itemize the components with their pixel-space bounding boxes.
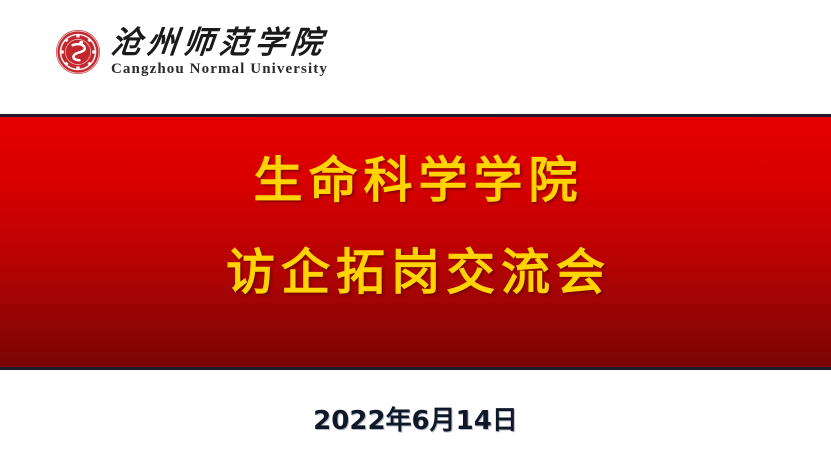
slide-footer: 2022年6月14日	[0, 370, 831, 468]
title-line-1: 生命科学学院	[247, 151, 583, 211]
university-name-english: Cangzhou Normal University	[111, 60, 328, 78]
banner-title-group: 生命科学学院 访企拓岗交流会	[0, 117, 831, 367]
red-title-banner: 生命科学学院 访企拓岗交流会	[0, 114, 831, 370]
university-name-chinese: 沧州师范学院	[109, 26, 329, 59]
presentation-slide: 沧州师范学院 Cangzhou Normal University 生命科学学院…	[0, 0, 831, 468]
university-logo: 沧州师范学院 Cangzhou Normal University	[55, 26, 328, 78]
university-seal-icon	[55, 29, 101, 75]
slide-header: 沧州师范学院 Cangzhou Normal University	[0, 0, 831, 114]
title-line-2: 访企拓岗交流会	[220, 243, 611, 303]
logo-text-block: 沧州师范学院 Cangzhou Normal University	[111, 26, 328, 78]
event-date: 2022年6月14日	[0, 406, 831, 436]
